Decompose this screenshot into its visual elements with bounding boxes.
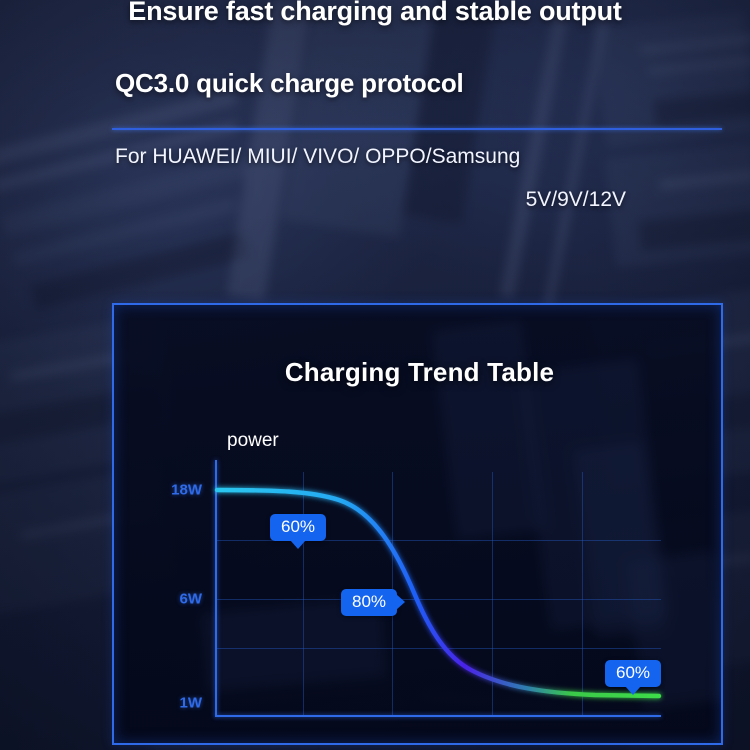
chart-title: Charging Trend Table — [114, 357, 723, 388]
annotation-badge-60-left: 60% — [270, 514, 326, 541]
annotation-badge-80: 80% — [341, 589, 397, 616]
chart-panel: Charging Trend Table power 18W 6W 1W — [112, 303, 723, 745]
promo-banner: Ensure fast charging and stable output Q… — [0, 0, 750, 750]
page-title: Ensure fast charging and stable output — [0, 0, 750, 27]
divider — [112, 128, 722, 130]
y-tick-18w: 18W — [171, 482, 202, 499]
badge-pointer-icon — [625, 686, 641, 695]
annotation-badge-60-right: 60% — [605, 660, 661, 687]
voltage-text: 5V/9V/12V — [0, 188, 626, 212]
chart-plot-area: power 18W 6W 1W — [215, 472, 661, 717]
y-tick-1w: 1W — [180, 695, 203, 712]
y-axis-name: power — [227, 430, 279, 452]
badge-pointer-icon — [290, 540, 306, 549]
badge-pointer-icon — [396, 594, 405, 610]
page-subtitle: QC3.0 quick charge protocol — [115, 68, 464, 99]
charging-trend-curve — [215, 460, 661, 717]
compatibility-text: For HUAWEI/ MIUI/ VIVO/ OPPO/Samsung — [115, 145, 520, 169]
y-tick-6w: 6W — [180, 591, 203, 608]
